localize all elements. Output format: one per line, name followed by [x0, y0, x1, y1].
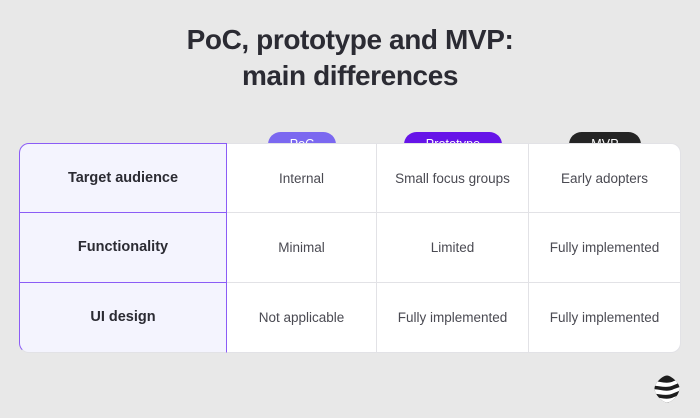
page-title: PoC, prototype and MVP: main differences: [0, 22, 700, 94]
cell-mvp-functionality: Fully implemented: [529, 213, 681, 283]
cell-prototype-target-audience: Small focus groups: [377, 143, 529, 213]
comparison-table: Target audience Internal Small focus gro…: [19, 143, 681, 353]
row-label-functionality: Functionality: [19, 213, 227, 283]
table-row: Target audience Internal Small focus gro…: [19, 143, 681, 213]
cell-mvp-target-audience: Early adopters: [529, 143, 681, 213]
page-title-line-1: PoC, prototype and MVP:: [0, 22, 700, 58]
table-row: UI design Not applicable Fully implement…: [19, 283, 681, 353]
cell-poc-functionality: Minimal: [227, 213, 377, 283]
cell-poc-ui-design: Not applicable: [227, 283, 377, 353]
cell-prototype-functionality: Limited: [377, 213, 529, 283]
striped-diamond-logo-icon: [652, 374, 682, 404]
row-label-target-audience: Target audience: [19, 143, 227, 213]
cell-prototype-ui-design: Fully implemented: [377, 283, 529, 353]
table-row: Functionality Minimal Limited Fully impl…: [19, 213, 681, 283]
cell-poc-target-audience: Internal: [227, 143, 377, 213]
row-label-ui-design: UI design: [19, 283, 227, 353]
cell-mvp-ui-design: Fully implemented: [529, 283, 681, 353]
page-title-line-2: main differences: [0, 58, 700, 94]
